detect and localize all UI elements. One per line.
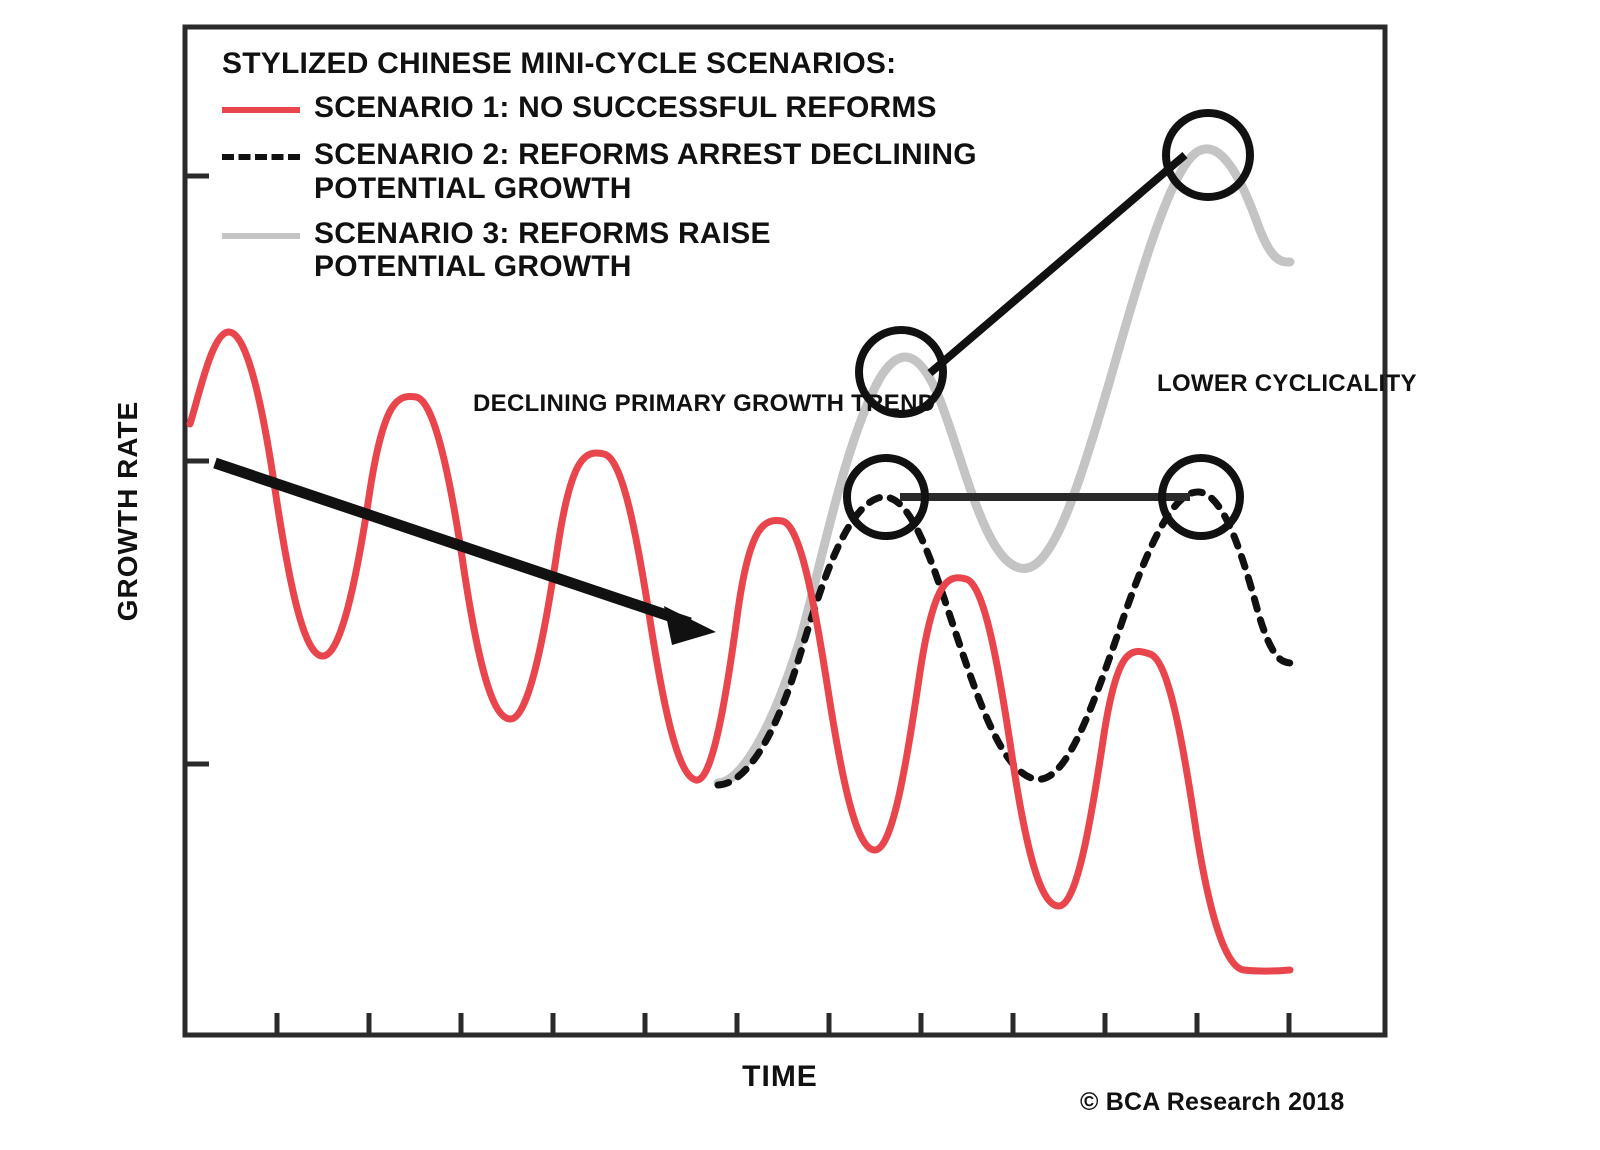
legend-title: STYLIZED CHINESE MINI-CYCLE SCENARIOS: [222,48,1122,80]
annotation-lower-cyclicality: LOWER CYCLICALITY [1157,370,1417,399]
legend-swatch-scenario-3-icon [222,217,300,253]
legend-swatch-scenario-2-icon [222,138,300,174]
copyright-notice: © BCA Research 2018 [1080,1088,1344,1117]
legend-label-scenario-3: SCENARIO 3: REFORMS RAISE POTENTIAL GROW… [314,217,874,284]
x-axis-label: TIME [660,1060,900,1094]
legend-swatch-scenario-1-icon [222,91,300,127]
legend-label-scenario-2: SCENARIO 2: REFORMS ARREST DECLINING POT… [314,138,1104,205]
annotation-declining-trend: DECLINING PRIMARY GROWTH TREND [473,390,935,419]
chart-container: STYLIZED CHINESE MINI-CYCLE SCENARIOS: S… [0,0,1600,1150]
y-axis-label: GROWTH RATE [112,361,144,661]
legend-label-scenario-1: SCENARIO 1: NO SUCCESSFUL REFORMS [314,91,937,125]
chart-legend: STYLIZED CHINESE MINI-CYCLE SCENARIOS: S… [222,48,1122,284]
legend-item-scenario-2[interactable]: SCENARIO 2: REFORMS ARREST DECLINING POT… [222,138,1122,205]
legend-item-scenario-3[interactable]: SCENARIO 3: REFORMS RAISE POTENTIAL GROW… [222,217,1122,284]
legend-item-scenario-1[interactable]: SCENARIO 1: NO SUCCESSFUL REFORMS [222,91,1122,127]
